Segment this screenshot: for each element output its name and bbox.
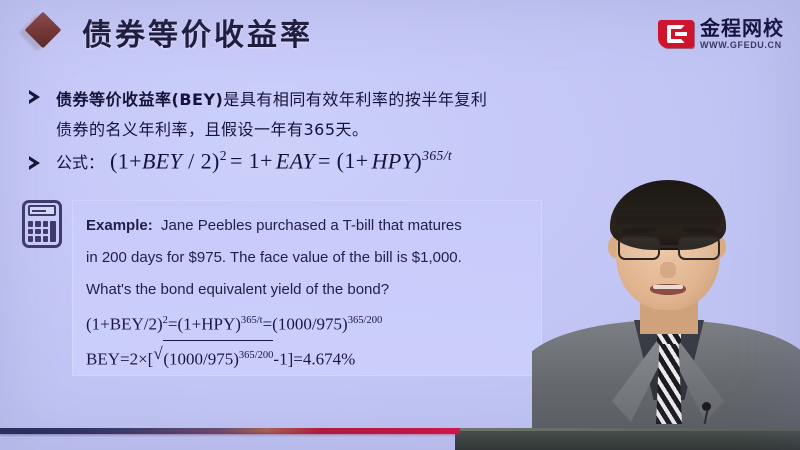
bullet-definition-line2: 债券的名义年利率，且假设一年有365天。	[56, 116, 369, 140]
calculator-key	[28, 221, 33, 227]
calculator-keypad	[28, 221, 48, 242]
calculator-key	[43, 236, 48, 242]
calculator-screen-text	[32, 210, 46, 212]
calc1-b-sup: 365/t	[241, 315, 263, 326]
formula-p1: (1+	[110, 148, 142, 173]
slide-header: 债券等价收益率 金程网校 WWW.GFEDU.CN	[0, 0, 800, 62]
radical-bar	[163, 340, 273, 341]
formula-exp-2: 2	[220, 148, 227, 163]
formula-bey: BEY	[142, 148, 182, 173]
glasses-icon	[618, 236, 720, 260]
square-root-expression: (1000/975)365/200	[153, 340, 273, 375]
formula-p3: )	[414, 148, 422, 173]
formula-eq2: = (1+	[318, 148, 369, 173]
calc2-rad: (1000/975)	[163, 349, 239, 368]
calc1-a: (1+BEY/2)	[86, 315, 163, 334]
glasses-bridge	[660, 245, 678, 248]
main-formula: (1+BEY / 2)2= 1+EAY= (1+HPY)365/t	[110, 148, 452, 174]
calculator-key	[35, 229, 40, 235]
calc2-rad-sup: 365/200	[239, 350, 274, 361]
example-text-block: Example: Jane Peebles purchased a T-bill…	[86, 210, 536, 374]
formula-exp-365t: 365/t	[422, 148, 452, 163]
bullet-item-formula: 公式： (1+BEY / 2)2= 1+EAY= (1+HPY)365/t	[28, 148, 452, 174]
bullet-definition-rest: 是具有相同有效年利率的按半年复利	[223, 90, 487, 109]
gfedu-g-mark-icon	[658, 20, 694, 48]
example-line-1: Example: Jane Peebles purchased a T-bill…	[86, 210, 536, 242]
calc2-a: BEY=2×[	[86, 349, 153, 368]
example-calc-line-1: (1+BEY/2)2=(1+HPY)365/t=(1000/975)365/20…	[86, 306, 536, 340]
bullet-item-definition: 债券等价收益率(BEY)是具有相同有效年利率的按半年复利	[28, 86, 487, 110]
glasses-lens-right	[678, 236, 720, 260]
formula-eq1: = 1+	[230, 148, 273, 173]
formula-eay: EAY	[276, 148, 315, 173]
calculator-icon	[22, 200, 62, 248]
calculator-key	[35, 221, 40, 227]
arrow-bullet-icon-2	[28, 156, 42, 170]
presenter-video-figure	[532, 180, 800, 450]
calculator-key	[28, 236, 33, 242]
arrow-bullet-icon	[28, 90, 42, 104]
bullet-definition-term: 债券等价收益率(BEY)	[56, 90, 223, 109]
calculator-key	[43, 229, 48, 235]
example-sentence-1: Jane Peebles purchased a T-bill that mat…	[161, 217, 462, 234]
logo-name-cn: 金程网校	[700, 18, 784, 38]
podium-desk	[455, 428, 800, 450]
calc2-b: -1]=4.674%	[273, 349, 355, 368]
diamond-bullet-icon	[24, 16, 58, 50]
gfedu-logo[interactable]: 金程网校 WWW.GFEDU.CN	[658, 16, 784, 52]
bullet-definition-line1: 债券等价收益率(BEY)是具有相同有效年利率的按半年复利	[56, 86, 487, 110]
calculator-screen	[28, 205, 56, 216]
presenter-mouth	[650, 284, 686, 295]
calc1-c-sup: 365/200	[348, 315, 383, 326]
presenter-tie	[656, 338, 682, 424]
slide-canvas: 债券等价收益率 金程网校 WWW.GFEDU.CN 债券等价收益率(BEY)是具…	[0, 0, 800, 450]
example-label: Example:	[86, 217, 153, 234]
glasses-lens-left	[618, 236, 660, 260]
calculator-key	[35, 236, 40, 242]
calculator-enter-key	[50, 221, 56, 242]
bottom-accent-stripe	[0, 428, 460, 434]
calc1-b: =(1+HPY)	[168, 315, 241, 334]
example-line-3: What's the bond equivalent yield of the …	[86, 274, 536, 306]
formula-p2: / 2)	[182, 148, 219, 173]
calculator-key	[43, 221, 48, 227]
formula-hpy: HPY	[372, 148, 415, 173]
page-title: 债券等价收益率	[82, 10, 313, 54]
example-line-2: in 200 days for $975. The face value of …	[86, 242, 536, 274]
example-box: Example: Jane Peebles purchased a T-bill…	[72, 200, 542, 376]
logo-text-block: 金程网校 WWW.GFEDU.CN	[700, 18, 784, 50]
lapel-microphone-icon	[702, 402, 711, 411]
example-calc-line-2: BEY=2×[(1000/975)365/200-1]=4.674%	[86, 340, 536, 375]
logo-url: WWW.GFEDU.CN	[700, 41, 784, 50]
calculator-key	[28, 229, 33, 235]
calc1-c: =(1000/975)	[263, 315, 348, 334]
presenter-nose	[660, 262, 676, 278]
g-letter-bar	[675, 32, 687, 36]
formula-label: 公式：	[56, 149, 104, 173]
